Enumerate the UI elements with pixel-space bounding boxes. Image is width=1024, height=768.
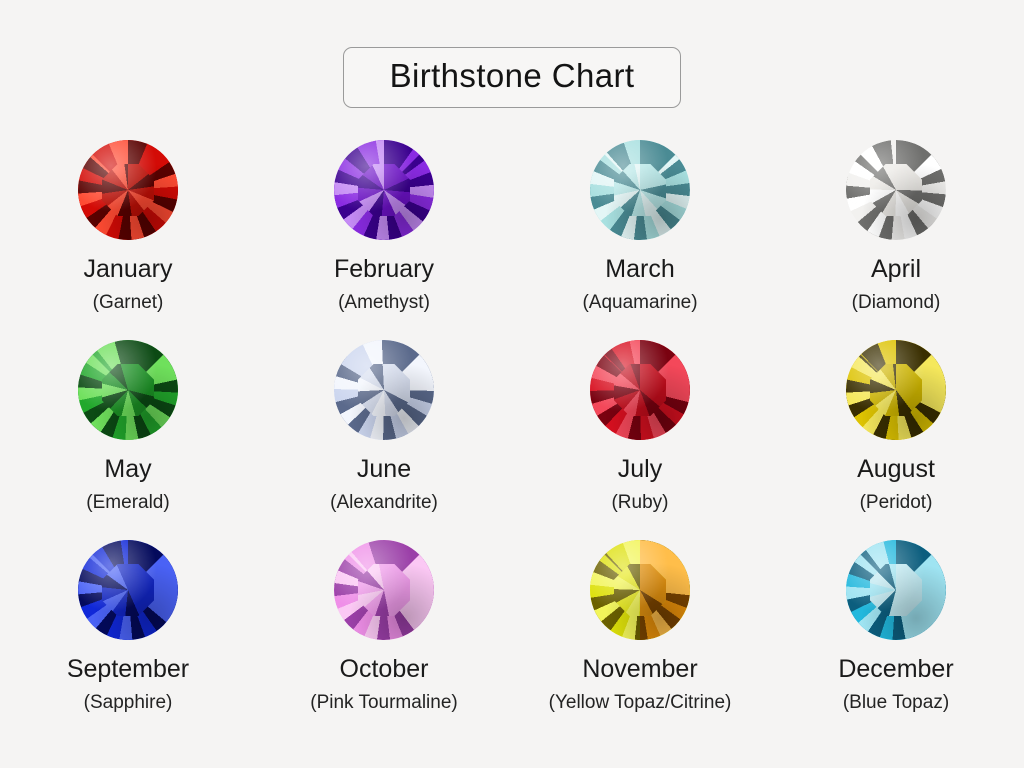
gemstone-april-icon bbox=[846, 140, 946, 240]
gem-highlight bbox=[334, 340, 434, 440]
stone-name-label: (Diamond) bbox=[852, 293, 941, 312]
gem-star-facets bbox=[590, 340, 690, 440]
gem-highlight bbox=[590, 140, 690, 240]
gemstone-may-icon bbox=[78, 340, 178, 440]
month-label: January bbox=[84, 257, 173, 282]
gem-table-facet bbox=[358, 364, 410, 416]
gem-crown-facets bbox=[590, 140, 690, 240]
gem-crown-facets bbox=[590, 340, 690, 440]
stone-name-label: (Pink Tourmaline) bbox=[310, 693, 457, 712]
gem-highlight bbox=[846, 340, 946, 440]
month-label: May bbox=[104, 457, 151, 482]
birthstone-cell: December(Blue Topaz) bbox=[768, 540, 1024, 740]
gem-star-facets bbox=[78, 340, 178, 440]
gem-highlight bbox=[846, 540, 946, 640]
gem-table-facet bbox=[102, 564, 154, 616]
gem-crown-facets bbox=[78, 340, 178, 440]
birthstone-cell: September(Sapphire) bbox=[0, 540, 256, 740]
gem-star-facets bbox=[846, 140, 946, 240]
gem-star-facets bbox=[846, 540, 946, 640]
title-container: Birthstone Chart bbox=[0, 47, 1024, 108]
stone-name-label: (Alexandrite) bbox=[330, 493, 438, 512]
gem-star-facets bbox=[334, 540, 434, 640]
birthstone-cell: May(Emerald) bbox=[0, 340, 256, 540]
month-label: December bbox=[838, 657, 953, 682]
gem-highlight bbox=[334, 140, 434, 240]
gem-crown-facets bbox=[78, 540, 178, 640]
month-label: August bbox=[857, 457, 935, 482]
gem-star-facets bbox=[78, 140, 178, 240]
gem-crown-facets bbox=[846, 140, 946, 240]
gem-table-facet-right bbox=[614, 564, 666, 616]
gem-crown-facets bbox=[590, 540, 690, 640]
gem-star-facets bbox=[590, 540, 690, 640]
month-label: February bbox=[334, 257, 434, 282]
birthstone-cell: November(Yellow Topaz/Citrine) bbox=[512, 540, 768, 740]
gem-star-facets bbox=[846, 340, 946, 440]
gem-table-facet bbox=[102, 364, 154, 416]
gem-highlight bbox=[590, 540, 690, 640]
stone-name-label: (Blue Topaz) bbox=[843, 693, 949, 712]
gem-star-facets bbox=[334, 340, 434, 440]
month-label: September bbox=[67, 657, 189, 682]
birthstone-cell: August(Peridot) bbox=[768, 340, 1024, 540]
birthstone-cell: January(Garnet) bbox=[0, 140, 256, 340]
gem-crown-facets bbox=[78, 140, 178, 240]
gem-table-facet bbox=[870, 564, 922, 616]
gemstone-november-icon bbox=[590, 540, 690, 640]
month-label: July bbox=[618, 457, 662, 482]
birthstone-cell: February(Amethyst) bbox=[256, 140, 512, 340]
gemstone-january-icon bbox=[78, 140, 178, 240]
page-title: Birthstone Chart bbox=[390, 58, 635, 94]
month-label: November bbox=[582, 657, 697, 682]
title-box: Birthstone Chart bbox=[343, 47, 682, 108]
birthstone-cell: April(Diamond) bbox=[768, 140, 1024, 340]
gem-star-facets-right bbox=[590, 540, 690, 640]
gemstone-february-icon bbox=[334, 140, 434, 240]
gem-table-facet bbox=[102, 164, 154, 216]
stone-name-label: (Ruby) bbox=[611, 493, 668, 512]
gemstone-march-icon bbox=[590, 140, 690, 240]
gem-star-facets bbox=[78, 540, 178, 640]
gem-table-facet bbox=[614, 164, 666, 216]
gem-crown-facets bbox=[334, 340, 434, 440]
gem-star-facets bbox=[590, 140, 690, 240]
gem-table-facet bbox=[358, 564, 410, 616]
stone-name-label: (Garnet) bbox=[93, 293, 164, 312]
stone-name-label: (Aquamarine) bbox=[582, 293, 697, 312]
gemstone-june-icon bbox=[334, 340, 434, 440]
birthstone-cell: October(Pink Tourmaline) bbox=[256, 540, 512, 740]
gem-highlight bbox=[590, 340, 690, 440]
birthstone-grid: January(Garnet)February(Amethyst)March(A… bbox=[0, 140, 1024, 740]
gem-table-facet bbox=[614, 564, 666, 616]
gem-crown-facets bbox=[334, 540, 434, 640]
gem-table-facet bbox=[870, 364, 922, 416]
gem-highlight bbox=[78, 140, 178, 240]
gem-crown-facets bbox=[846, 340, 946, 440]
gem-highlight bbox=[78, 340, 178, 440]
gem-table-facet bbox=[358, 164, 410, 216]
stone-name-label: (Peridot) bbox=[860, 493, 933, 512]
gemstone-august-icon bbox=[846, 340, 946, 440]
stone-name-label: (Yellow Topaz/Citrine) bbox=[549, 693, 732, 712]
gem-star-facets bbox=[334, 140, 434, 240]
gem-crown-facets bbox=[334, 140, 434, 240]
gem-table-facet bbox=[870, 164, 922, 216]
month-label: March bbox=[605, 257, 674, 282]
gem-table-facet bbox=[614, 364, 666, 416]
gemstone-september-icon bbox=[78, 540, 178, 640]
gem-highlight bbox=[78, 540, 178, 640]
month-label: October bbox=[340, 657, 429, 682]
month-label: June bbox=[357, 457, 411, 482]
gemstone-october-icon bbox=[334, 540, 434, 640]
gemstone-july-icon bbox=[590, 340, 690, 440]
stone-name-label: (Amethyst) bbox=[338, 293, 430, 312]
month-label: April bbox=[871, 257, 921, 282]
gem-crown-facets bbox=[846, 540, 946, 640]
gem-highlight bbox=[334, 540, 434, 640]
birthstone-cell: June(Alexandrite) bbox=[256, 340, 512, 540]
gemstone-december-icon bbox=[846, 540, 946, 640]
birthstone-cell: March(Aquamarine) bbox=[512, 140, 768, 340]
birthstone-cell: July(Ruby) bbox=[512, 340, 768, 540]
gem-highlight bbox=[846, 140, 946, 240]
stone-name-label: (Emerald) bbox=[86, 493, 169, 512]
gem-crown-facets-right bbox=[590, 540, 690, 640]
stone-name-label: (Sapphire) bbox=[84, 693, 173, 712]
